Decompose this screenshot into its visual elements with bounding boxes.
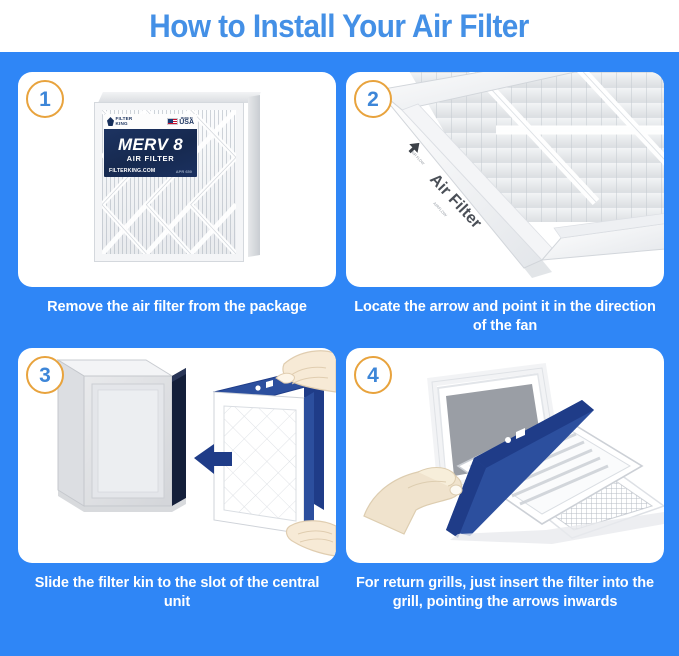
step-card-1: 1 xyxy=(18,72,336,317)
filter-front-face: FILTER KING MADE IN USA xyxy=(94,102,244,262)
step-1-image-card: 1 xyxy=(18,72,336,287)
product-type-label: AIR FILTER xyxy=(104,154,197,163)
step-2-number: 2 xyxy=(367,89,379,110)
step-4-number: 4 xyxy=(367,365,379,386)
step-1-number: 1 xyxy=(39,89,51,110)
inserting-filter-into-ceiling-return-grill xyxy=(346,348,664,563)
page-title: How to Install Your Air Filter xyxy=(150,10,530,42)
air-filter-frame-corner-closeup: AIR FLOW Air Filter AIRFLOW xyxy=(346,72,664,287)
filter-king-logo: FILTER KING xyxy=(107,117,132,127)
filter-photo: FILTER KING MADE IN USA xyxy=(94,92,260,264)
step-3-image-card: 3 xyxy=(18,348,336,563)
brand-website: FILTERKING.COM xyxy=(109,168,155,174)
step-card-2: 2 xyxy=(346,72,664,337)
header-bar: How to Install Your Air Filter xyxy=(0,0,679,52)
country-label: USA xyxy=(179,119,194,126)
step-4-image-card: 4 xyxy=(346,348,664,563)
step-4-badge: 4 xyxy=(354,356,392,394)
step-card-3: 3 xyxy=(18,348,336,613)
filter-product-label: FILTER KING MADE IN USA xyxy=(104,114,197,177)
filter-side-edge xyxy=(248,95,260,257)
hand-bottom xyxy=(287,521,336,556)
step-2-caption: Locate the arrow and point it in the dir… xyxy=(346,298,664,337)
corner-illustration xyxy=(346,72,664,287)
crown-icon xyxy=(107,117,114,126)
step-2-image-card: 2 xyxy=(346,72,664,287)
step-3-caption: Slide the filter kin to the slot of the … xyxy=(18,574,336,613)
usa-flag-icon xyxy=(167,118,178,125)
step-3-badge: 3 xyxy=(26,356,64,394)
label-footer-strip: FILTERKING.COM APR 650 xyxy=(109,168,192,174)
made-in-usa-mark: MADE IN USA xyxy=(167,117,194,127)
made-in-usa-text: MADE IN USA xyxy=(179,117,194,127)
merv-rating: MERV 8 xyxy=(104,136,197,153)
steps-grid: 1 xyxy=(0,52,679,656)
step-card-4: 4 xyxy=(346,348,664,613)
step-2-badge: 2 xyxy=(354,80,392,118)
infographic-page: How to Install Your Air Filter 1 xyxy=(0,0,679,656)
label-header-strip: FILTER KING MADE IN USA xyxy=(104,114,197,129)
brand-name: FILTER KING xyxy=(116,117,133,127)
step-1-caption: Remove the air filter from the package xyxy=(18,298,336,317)
sliding-filter-into-central-unit-slot xyxy=(18,348,336,563)
step-3-number: 3 xyxy=(39,365,51,386)
apr-rating: APR 650 xyxy=(176,169,192,174)
step-4-caption: For return grills, just insert the filte… xyxy=(346,574,664,613)
merv-8-air-filter-product-photo: FILTER KING MADE IN USA xyxy=(18,72,336,287)
brand-line-2: KING xyxy=(116,121,128,126)
step-1-badge: 1 xyxy=(26,80,64,118)
